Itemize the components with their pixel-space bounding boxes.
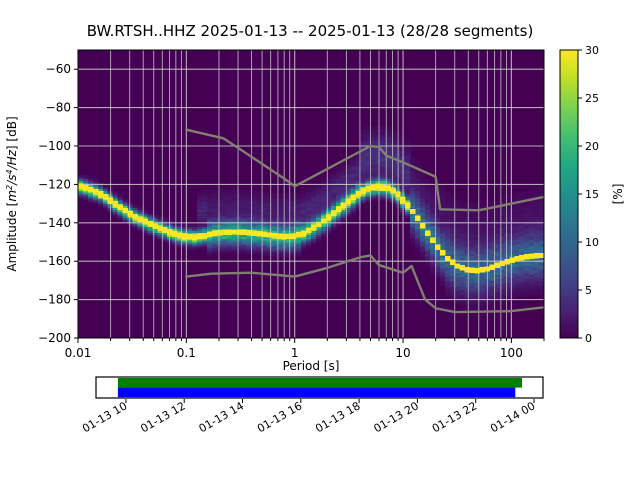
density-cell — [430, 186, 436, 189]
density-cell — [256, 190, 262, 193]
mode-marker — [480, 267, 485, 272]
y-tick-label: −200 — [38, 331, 71, 345]
mode-marker — [162, 227, 167, 232]
mode-marker — [519, 255, 524, 260]
mode-marker — [202, 233, 207, 238]
mode-marker — [98, 191, 103, 196]
density-cell — [415, 161, 421, 164]
density-cell — [509, 194, 515, 197]
mode-marker — [321, 218, 326, 223]
colorbar-tick-label: 10 — [585, 236, 599, 249]
mode-marker — [83, 185, 88, 190]
mode-marker — [435, 245, 440, 250]
mode-marker — [271, 233, 276, 238]
density-cell — [375, 125, 381, 128]
density-cell — [133, 204, 139, 207]
mode-marker — [351, 195, 356, 200]
mode-marker — [534, 253, 539, 258]
mode-marker — [415, 216, 420, 221]
mode-marker — [455, 263, 460, 268]
mode-marker — [301, 230, 306, 235]
density-cell — [455, 200, 461, 203]
mode-marker — [128, 211, 133, 216]
density-cell — [187, 225, 193, 228]
density-cell — [341, 163, 347, 166]
mode-marker — [286, 234, 291, 239]
mode-marker — [499, 261, 504, 266]
mode-marker — [172, 231, 177, 236]
x-axis-label: Period [s] — [283, 359, 340, 373]
x-tick-label: 1 — [291, 346, 299, 360]
mode-marker — [346, 199, 351, 204]
mode-marker — [336, 207, 341, 212]
density-cell — [93, 179, 99, 182]
mode-marker — [242, 230, 247, 235]
mode-marker — [93, 189, 98, 194]
mode-marker — [380, 184, 385, 189]
density-cell — [88, 177, 94, 180]
mode-marker — [489, 265, 494, 270]
density-cell — [445, 192, 451, 195]
density-cell — [296, 194, 302, 197]
timeline-bar-data-availability[interactable] — [118, 378, 522, 388]
density-cell — [78, 175, 84, 178]
mode-marker — [420, 223, 425, 228]
mode-marker — [306, 228, 311, 233]
mode-marker — [326, 215, 331, 220]
mode-marker — [475, 268, 480, 273]
mode-marker — [356, 191, 361, 196]
colorbar-tick-label: 5 — [585, 284, 592, 297]
y-tick-label: −120 — [38, 177, 71, 191]
mode-marker — [450, 260, 455, 265]
mode-marker — [529, 253, 534, 258]
density-cell — [202, 190, 208, 193]
timeline-bars[interactable] — [118, 378, 522, 397]
colorbar-gradient — [560, 50, 578, 338]
mode-marker — [222, 230, 227, 235]
mode-marker — [361, 188, 366, 193]
mode-marker — [311, 225, 316, 230]
mode-marker — [207, 232, 212, 237]
mode-marker — [375, 184, 380, 189]
mode-marker — [137, 216, 142, 221]
mode-marker — [445, 256, 450, 261]
mode-marker — [524, 254, 529, 259]
mode-marker — [108, 197, 113, 202]
mode-marker — [504, 259, 509, 264]
density-cell — [118, 194, 124, 197]
x-tick-label: 0.01 — [65, 346, 92, 360]
density-cell — [123, 198, 129, 201]
timeline-bar-ppsd-segments[interactable] — [118, 388, 515, 398]
density-cell — [529, 190, 535, 193]
y-axis-label: Amplitude [m2/s4/Hz] [dB] — [5, 116, 20, 271]
density-cell — [232, 188, 238, 191]
density-cell — [286, 192, 292, 195]
y-tick-label: −180 — [38, 293, 71, 307]
density-cell — [311, 186, 317, 189]
mode-marker — [187, 234, 192, 239]
mode-marker — [485, 266, 490, 271]
mode-marker — [276, 234, 281, 239]
mode-marker — [331, 211, 336, 216]
density-cell — [128, 202, 134, 205]
mode-marker — [217, 230, 222, 235]
mode-marker — [177, 232, 182, 237]
x-tick-label: 0.1 — [177, 346, 196, 360]
mode-marker — [509, 257, 514, 262]
mode-marker — [118, 204, 123, 209]
density-cell — [113, 192, 119, 195]
density-cell — [331, 171, 337, 174]
density-cell — [460, 202, 466, 205]
y-tick-label: −100 — [38, 139, 71, 153]
mode-marker — [113, 201, 118, 206]
mode-marker — [167, 229, 172, 234]
density-cell — [514, 192, 520, 195]
mode-marker — [123, 208, 128, 213]
mode-marker — [465, 267, 470, 272]
colorbar-tick-label: 30 — [585, 44, 599, 57]
mode-marker — [256, 231, 261, 236]
mode-marker — [316, 222, 321, 227]
mode-marker — [227, 230, 232, 235]
density-cell — [336, 167, 342, 170]
density-cell — [227, 190, 233, 193]
density-cell — [276, 194, 282, 197]
mode-marker — [261, 232, 266, 237]
density-cell — [252, 190, 258, 193]
density-cell — [524, 192, 530, 195]
density-cell — [197, 192, 203, 195]
y-tick-label: −140 — [38, 216, 71, 230]
density-cell — [475, 204, 481, 207]
density-cell — [147, 211, 153, 214]
density-cell — [242, 190, 248, 193]
density-cell — [217, 188, 223, 191]
mode-marker — [425, 231, 430, 236]
density-cell — [504, 194, 510, 197]
density-cell — [137, 207, 143, 210]
y-tick-label: −60 — [46, 62, 71, 76]
density-cell — [291, 192, 297, 195]
density-cell — [306, 188, 312, 191]
density-cell — [519, 192, 525, 195]
y-tick-label: −80 — [46, 101, 71, 115]
mode-marker — [410, 209, 415, 214]
density-cell — [380, 125, 386, 128]
mode-marker — [237, 230, 242, 235]
mode-marker — [232, 229, 237, 234]
density-cell — [271, 192, 277, 195]
mode-marker — [142, 219, 147, 224]
density-cell — [370, 127, 376, 130]
mode-marker — [470, 268, 475, 273]
mode-marker — [182, 234, 187, 239]
density-cell — [480, 202, 486, 205]
mode-marker — [405, 202, 410, 207]
mode-marker — [157, 225, 162, 230]
mode-marker — [395, 192, 400, 197]
mode-marker — [281, 234, 286, 239]
mode-marker — [266, 232, 271, 237]
mode-marker — [494, 263, 499, 268]
density-cell — [192, 225, 198, 228]
y-tick-label: −160 — [38, 254, 71, 268]
mode-marker — [88, 187, 93, 192]
colorbar-tick-label: 20 — [585, 140, 599, 153]
colorbar-tick-label: 15 — [585, 188, 599, 201]
mode-marker — [400, 197, 405, 202]
density-cell — [425, 179, 431, 182]
density-cell — [410, 158, 416, 161]
mode-marker — [385, 185, 390, 190]
mode-marker — [133, 214, 138, 219]
figure-canvas: BW.RTSH..HHZ 2025-01-13 -- 2025-01-13 (2… — [0, 0, 640, 480]
density-cell — [222, 190, 228, 193]
mode-marker — [514, 256, 519, 261]
density-cell — [390, 131, 396, 134]
mode-marker — [103, 194, 108, 199]
density-cell — [534, 188, 540, 191]
mode-marker — [147, 221, 152, 226]
x-tick-label: 10 — [395, 346, 410, 360]
density-cell — [494, 202, 500, 205]
density-cell — [207, 190, 213, 193]
mode-marker — [460, 265, 465, 270]
mode-marker — [291, 234, 296, 239]
density-cell — [301, 190, 307, 193]
density-cell — [499, 198, 505, 201]
density-cell — [83, 175, 89, 178]
figure-title: BW.RTSH..HHZ 2025-01-13 -- 2025-01-13 (2… — [87, 22, 534, 40]
density-cell — [212, 190, 218, 193]
mode-marker — [192, 234, 197, 239]
mode-marker — [440, 250, 445, 255]
density-cell — [162, 217, 168, 220]
mode-marker — [341, 203, 346, 208]
ppsd-figure: BW.RTSH..HHZ 2025-01-13 -- 2025-01-13 (2… — [0, 0, 640, 480]
colorbar-tick-label: 25 — [585, 92, 599, 105]
mode-marker — [197, 234, 202, 239]
density-cell — [465, 204, 471, 207]
density-cell — [405, 142, 411, 145]
density-cell — [470, 204, 476, 207]
colorbar-label: [%] — [611, 184, 625, 205]
density-cell — [326, 175, 332, 178]
density-cell — [321, 179, 327, 182]
mode-marker — [78, 184, 83, 189]
mode-marker — [366, 186, 371, 191]
mode-marker — [430, 238, 435, 243]
mode-marker — [296, 232, 301, 237]
density-cell — [361, 129, 367, 132]
density-cell — [237, 188, 243, 191]
x-tick-label: 100 — [500, 346, 523, 360]
mode-marker — [212, 231, 217, 236]
mode-marker — [390, 188, 395, 193]
density-cell — [152, 215, 158, 218]
mode-marker — [247, 230, 252, 235]
mode-marker — [252, 231, 257, 236]
mode-marker — [370, 185, 375, 190]
mode-marker — [152, 223, 157, 228]
colorbar-tick-label: 0 — [585, 332, 592, 345]
